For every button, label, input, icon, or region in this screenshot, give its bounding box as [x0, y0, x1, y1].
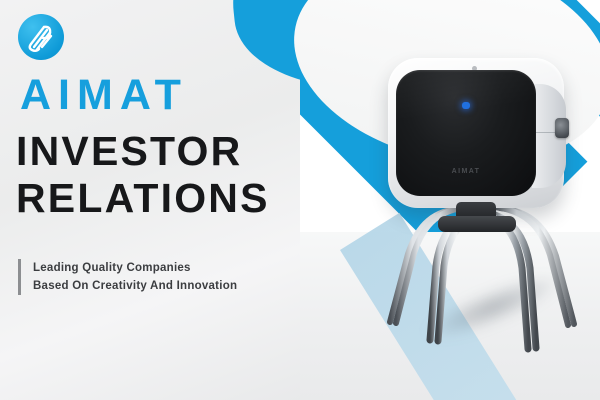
aimat-robot: AIMAT	[360, 40, 600, 380]
robot-leg-hub	[438, 216, 516, 232]
page-title: INVESTOR RELATIONS	[16, 128, 270, 222]
brand-title: AIMAT	[20, 74, 188, 117]
tagline-line-1: Leading Quality Companies	[33, 259, 237, 277]
aimat-wave-logo-icon	[18, 14, 64, 60]
robot-screen: AIMAT	[396, 70, 536, 196]
robot-screen-label: AIMAT	[396, 168, 536, 175]
robot-body: AIMAT	[388, 58, 564, 208]
headline-line-2: RELATIONS	[16, 175, 270, 222]
tagline-line-2: Based On Creativity And Innovation	[33, 277, 237, 295]
robot-side-port-icon	[555, 118, 569, 138]
tagline-block: Leading Quality Companies Based On Creat…	[18, 259, 237, 295]
headline-line-1: INVESTOR	[16, 128, 242, 174]
poster-canvas: AIMAT INVESTOR RELATIONS Leading Quality…	[0, 0, 600, 400]
robot-status-led-icon	[462, 102, 470, 109]
